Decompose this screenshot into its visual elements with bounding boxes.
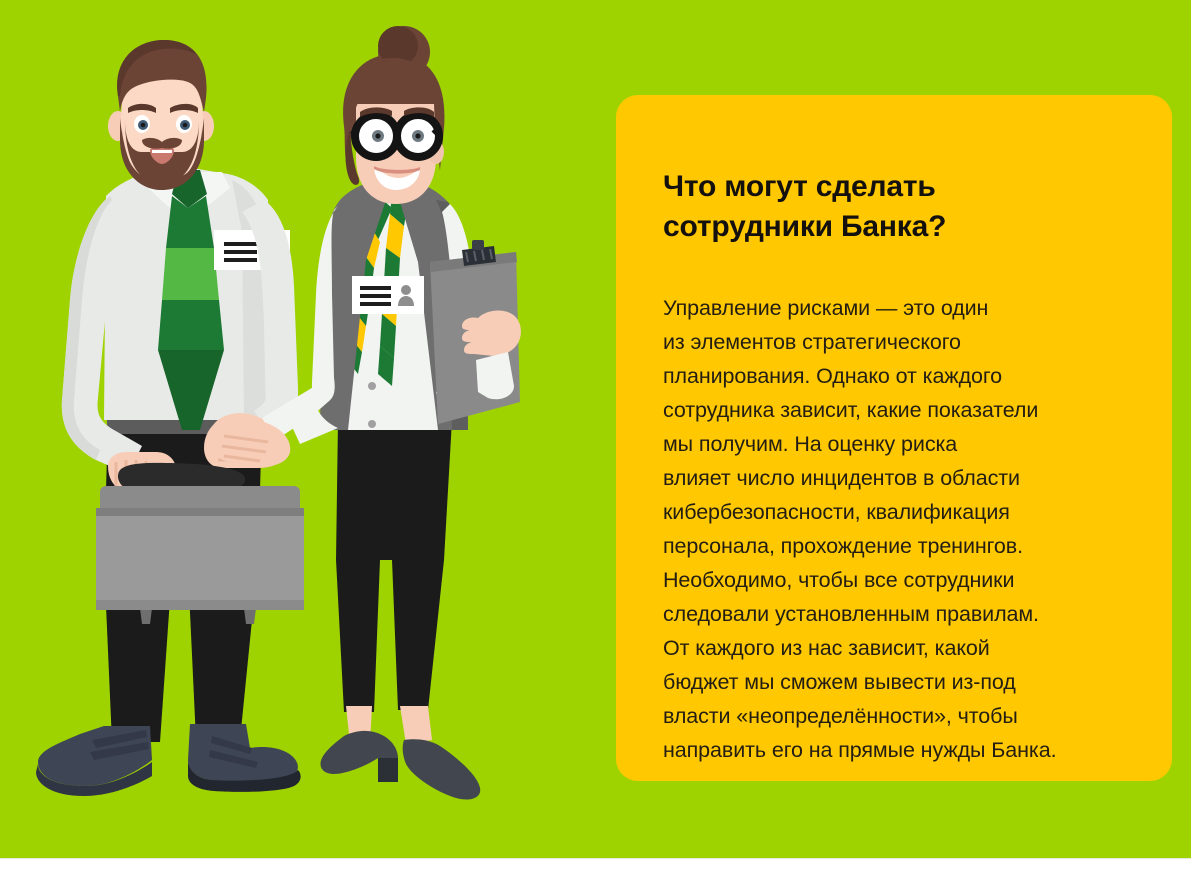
glasses-icon bbox=[352, 115, 439, 157]
man-shoe-left bbox=[36, 726, 152, 796]
woman-cuff-right bbox=[476, 352, 514, 399]
man-shoe-right bbox=[188, 724, 301, 792]
woman-shoe-left bbox=[321, 731, 399, 782]
card-body-text: Управление рисками — это один из элемент… bbox=[663, 291, 1131, 767]
illustration-two-bank-employees bbox=[0, 0, 616, 858]
woman-head bbox=[343, 26, 444, 204]
woman-vest-button-1 bbox=[368, 382, 376, 390]
woman-ankle-right bbox=[400, 706, 432, 744]
bottom-strip bbox=[0, 858, 1191, 871]
slide-root: Что могут сделать сотрудники Банка? Упра… bbox=[0, 0, 1191, 871]
woman-id-badge bbox=[352, 276, 424, 314]
info-card: Что могут сделать сотрудники Банка? Упра… bbox=[616, 95, 1172, 781]
info-card-content: Что могут сделать сотрудники Банка? Упра… bbox=[663, 167, 1131, 767]
briefcase bbox=[96, 463, 304, 624]
man-figure bbox=[36, 40, 301, 796]
woman-vest-button-2 bbox=[368, 420, 376, 428]
card-title: Что могут сделать сотрудники Банка? bbox=[663, 167, 1131, 247]
man-head bbox=[108, 40, 214, 190]
woman-shoe-right bbox=[403, 739, 481, 799]
woman-trousers bbox=[336, 420, 452, 712]
